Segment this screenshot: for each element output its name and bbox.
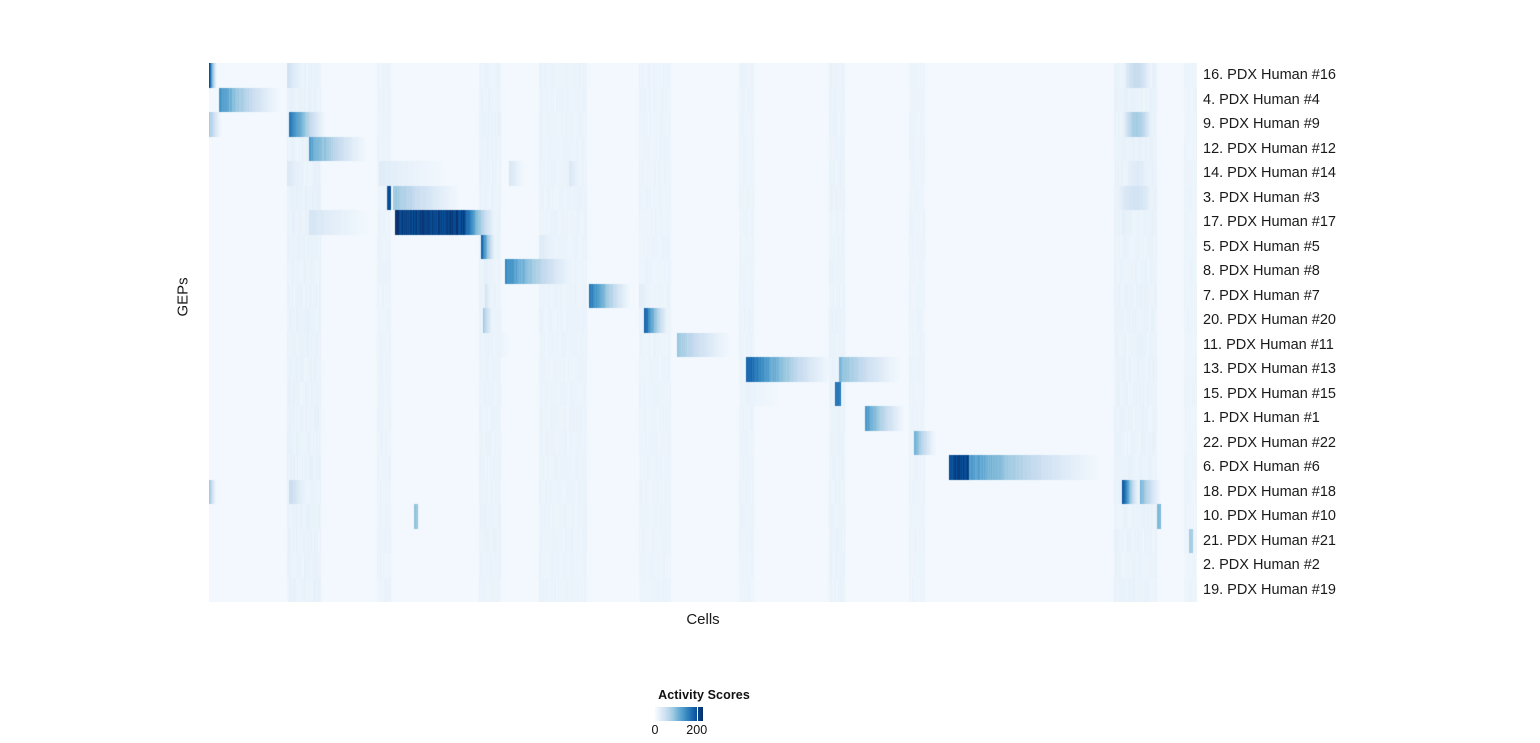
row-label: 14. PDX Human #14 — [1203, 161, 1336, 186]
colorbar-tick-mark — [697, 707, 699, 721]
row-label: 2. PDX Human #2 — [1203, 553, 1320, 578]
y-axis-title: GEPs — [175, 287, 192, 317]
colorbar-tick-labels: 0200 — [655, 723, 755, 739]
row-label: 20. PDX Human #20 — [1203, 308, 1336, 333]
row-label: 4. PDX Human #4 — [1203, 88, 1320, 113]
row-label: 3. PDX Human #3 — [1203, 186, 1320, 211]
heatmap-plot-area — [209, 63, 1197, 602]
row-label: 12. PDX Human #12 — [1203, 137, 1336, 162]
row-label-list: 16. PDX Human #164. PDX Human #49. PDX H… — [1203, 63, 1533, 602]
row-label: 19. PDX Human #19 — [1203, 578, 1336, 603]
row-label: 10. PDX Human #10 — [1203, 504, 1336, 529]
row-label: 1. PDX Human #1 — [1203, 406, 1320, 431]
row-label: 17. PDX Human #17 — [1203, 210, 1336, 235]
row-label: 13. PDX Human #13 — [1203, 357, 1336, 382]
row-label: 21. PDX Human #21 — [1203, 529, 1336, 554]
row-label: 18. PDX Human #18 — [1203, 480, 1336, 505]
x-axis-title: Cells — [209, 611, 1197, 628]
row-label: 22. PDX Human #22 — [1203, 431, 1336, 456]
heatmap-canvas — [209, 63, 1197, 602]
row-label: 15. PDX Human #15 — [1203, 382, 1336, 407]
row-label: 7. PDX Human #7 — [1203, 284, 1320, 309]
row-label: 6. PDX Human #6 — [1203, 455, 1320, 480]
row-label: 16. PDX Human #16 — [1203, 63, 1336, 88]
row-label: 8. PDX Human #8 — [1203, 259, 1320, 284]
colorbar-title: Activity Scores — [601, 688, 807, 702]
heatmap-figure: GEPs 16. PDX Human #164. PDX Human #49. … — [0, 0, 1540, 743]
row-label: 9. PDX Human #9 — [1203, 112, 1320, 137]
colorbar-wrap — [655, 707, 755, 721]
row-label: 11. PDX Human #11 — [1203, 333, 1334, 358]
row-label: 5. PDX Human #5 — [1203, 235, 1320, 260]
colorbar-tick-label: 0 — [652, 723, 659, 737]
colorbar-legend: Activity Scores 0200 — [601, 688, 807, 739]
colorbar-tick-label: 200 — [686, 723, 707, 737]
